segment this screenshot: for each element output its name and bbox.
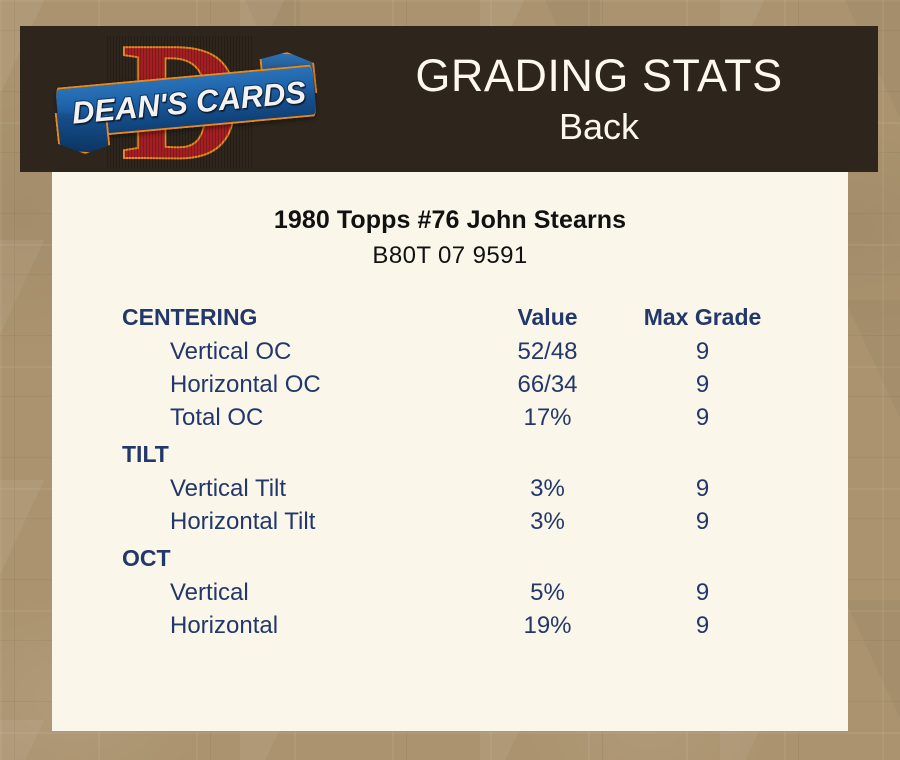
row-value: 19% bbox=[470, 610, 625, 643]
row-label: Horizontal OC bbox=[120, 369, 470, 402]
table-row: Horizontal OC66/349 bbox=[120, 369, 780, 402]
row-label: Vertical bbox=[120, 577, 470, 610]
row-max-grade: 9 bbox=[625, 577, 780, 610]
grading-stats-page: D DEAN'S CARDS GRADING STATS Back 1980 T… bbox=[0, 0, 900, 760]
row-value: 66/34 bbox=[470, 369, 625, 402]
grading-stats-table: CENTERING Value Max Grade Vertical OC52/… bbox=[120, 304, 780, 643]
row-value: 3% bbox=[470, 473, 625, 506]
section-header-row: OCT bbox=[120, 539, 780, 577]
column-header-max-grade: Max Grade bbox=[625, 304, 780, 336]
row-label: Horizontal bbox=[120, 610, 470, 643]
card-title: 1980 Topps #76 John Stearns bbox=[52, 206, 848, 235]
row-label: Vertical Tilt bbox=[120, 473, 470, 506]
table-row: Total OC17%9 bbox=[120, 402, 780, 435]
row-max-grade: 9 bbox=[625, 610, 780, 643]
row-value: 5% bbox=[470, 577, 625, 610]
page-subtitle: Back bbox=[559, 106, 639, 148]
row-value: 3% bbox=[470, 506, 625, 539]
row-label: Vertical OC bbox=[120, 336, 470, 369]
section-header-row: TILT bbox=[120, 435, 780, 473]
header-bar: D DEAN'S CARDS GRADING STATS Back bbox=[20, 26, 878, 172]
table-row: Horizontal Tilt3%9 bbox=[120, 506, 780, 539]
row-max-grade: 9 bbox=[625, 369, 780, 402]
row-max-grade: 9 bbox=[625, 473, 780, 506]
table-row: Horizontal19%9 bbox=[120, 610, 780, 643]
row-max-grade: 9 bbox=[625, 402, 780, 435]
section-header-label: OCT bbox=[120, 539, 780, 577]
row-max-grade: 9 bbox=[625, 506, 780, 539]
header-title-block: GRADING STATS Back bbox=[320, 26, 878, 172]
page-title: GRADING STATS bbox=[415, 50, 782, 102]
content-panel: 1980 Topps #76 John Stearns B80T 07 9591… bbox=[52, 172, 848, 731]
table-body: Vertical OC52/489Horizontal OC66/349Tota… bbox=[120, 336, 780, 643]
column-header-section: CENTERING bbox=[120, 304, 470, 336]
row-label: Total OC bbox=[120, 402, 470, 435]
deans-cards-logo[interactable]: D DEAN'S CARDS bbox=[55, 28, 317, 173]
row-max-grade: 9 bbox=[625, 336, 780, 369]
card-id: B80T 07 9591 bbox=[52, 242, 848, 270]
table-row: Vertical5%9 bbox=[120, 577, 780, 610]
table-header: CENTERING Value Max Grade bbox=[120, 304, 780, 336]
table-header-row: CENTERING Value Max Grade bbox=[120, 304, 780, 336]
column-header-value: Value bbox=[470, 304, 625, 336]
row-label: Horizontal Tilt bbox=[120, 506, 470, 539]
section-header-label: TILT bbox=[120, 435, 780, 473]
row-value: 17% bbox=[470, 402, 625, 435]
row-value: 52/48 bbox=[470, 336, 625, 369]
table-row: Vertical OC52/489 bbox=[120, 336, 780, 369]
table-row: Vertical Tilt3%9 bbox=[120, 473, 780, 506]
